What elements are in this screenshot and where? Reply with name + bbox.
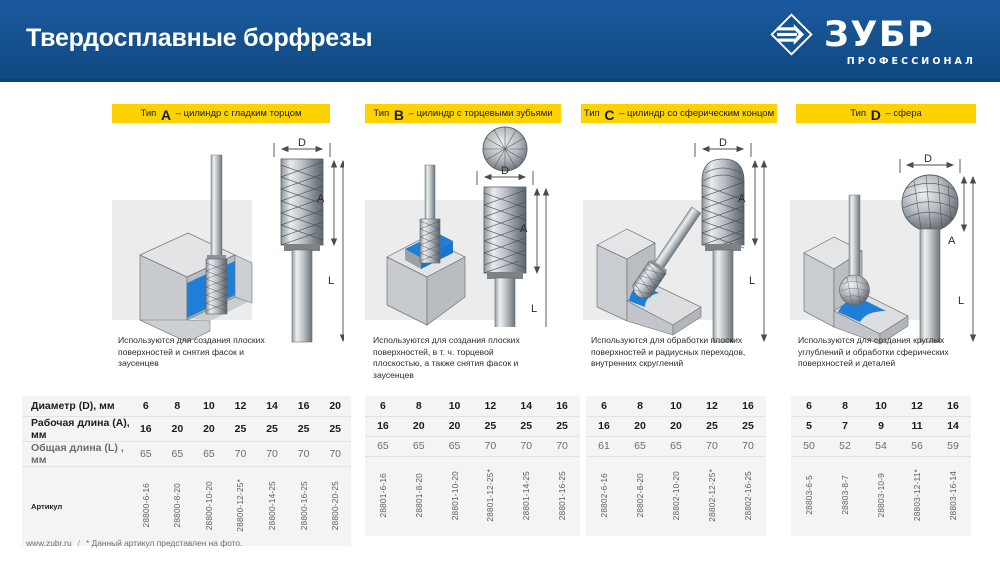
burr-tool-dimension-a (281, 159, 323, 342)
row-label-article-a: Артикул (22, 466, 130, 546)
brand-tagline: ПРОФЕССИОНАЛ (847, 56, 976, 67)
cell: 25 (544, 416, 580, 436)
dim-label-d-b: D (501, 165, 509, 177)
burr-tool-dimension-b (484, 187, 526, 327)
dim-label-d-a: D (298, 137, 306, 149)
table-row-diameter-b: 6 8 10 12 14 16 (365, 396, 580, 416)
illustration-type-d: D A L Используются для создания круглых … (790, 135, 990, 390)
cell: 28800-6-16 (130, 466, 162, 546)
footer-separator: / (72, 538, 86, 548)
cell: 25 (694, 416, 730, 436)
type-a-drawing (112, 135, 344, 355)
description-type-c: Используются для обработки плоских повер… (591, 335, 761, 370)
cell: 28800-16-25 (288, 466, 320, 546)
cell: 14 (935, 416, 971, 436)
cell: 20 (319, 396, 351, 416)
cell: 11 (899, 416, 935, 436)
cell: 8 (162, 396, 194, 416)
cell: 14 (508, 396, 544, 416)
cell: 28802-12-25* (694, 456, 730, 536)
cell: 10 (437, 396, 473, 416)
article-value: 28801-14-25 (521, 471, 531, 520)
cell: 65 (401, 436, 437, 456)
table-row-working-length-b: 16 20 20 25 25 25 (365, 416, 580, 436)
cell: 16 (730, 396, 766, 416)
cell: 25 (225, 416, 257, 441)
cell: 16 (130, 416, 162, 441)
cell: 12 (225, 396, 257, 416)
table-row-working-length-a: Рабочая длина (A), мм 16 20 20 25 25 25 … (22, 416, 351, 441)
cell: 65 (130, 441, 162, 466)
cell: 28803-8-7 (827, 456, 863, 536)
article-value: 28803-10-9 (876, 473, 886, 517)
illustration-type-c: D A L Используются для обработки плоских… (583, 135, 783, 390)
cell: 65 (437, 436, 473, 456)
cell: 8 (827, 396, 863, 416)
cell: 50 (791, 436, 827, 456)
cell: 12 (899, 396, 935, 416)
type-c-drawing (583, 135, 783, 355)
cell: 20 (193, 416, 225, 441)
brand-wordmark: ЗУБР (824, 17, 934, 53)
cell: 16 (586, 416, 622, 436)
article-value: 28800-6-16 (141, 483, 151, 527)
table-row-article-c: 28802-6-16 28802-8-20 28802-10-20 28802-… (586, 456, 766, 536)
illustration-type-a: D A L Используются для создания плоских … (112, 135, 344, 390)
cell: 28801-12-25* (472, 456, 508, 536)
dim-label-a-c: A (738, 193, 745, 205)
cell: 25 (508, 416, 544, 436)
page-title: Твердосплавные борфрезы (26, 24, 372, 53)
spec-table-c: 6 8 10 12 16 16 20 20 25 25 61 65 65 (586, 396, 766, 536)
footer-note: * Данный артикул представлен на фото. (86, 538, 242, 548)
cell: 65 (193, 441, 225, 466)
banner-prefix-a: Тип (140, 108, 156, 119)
cell: 65 (365, 436, 401, 456)
table-row-article-b: 28801-6-16 28801-8-20 28801-10-20 28801-… (365, 456, 580, 536)
cell: 20 (658, 416, 694, 436)
cell: 65 (658, 436, 694, 456)
spec-table-a: Диаметр (D), мм 6 8 10 12 14 16 20 Рабоч… (22, 396, 351, 546)
table-row-working-length-d: 5 7 9 11 14 (791, 416, 971, 436)
table-row-working-length-c: 16 20 20 25 25 (586, 416, 766, 436)
banner-suffix-d: – сфера (885, 108, 921, 119)
cell: 12 (472, 396, 508, 416)
cell: 28802-10-20 (658, 456, 694, 536)
dim-label-a-d: A (948, 235, 955, 247)
banner-letter-c: C (602, 108, 616, 122)
cell: 28801-8-20 (401, 456, 437, 536)
burr-tool-dimension-d (902, 175, 958, 342)
description-type-a: Используются для создания плоских поверх… (118, 335, 286, 370)
page-header: Твердосплавные борфрезы ЗУБР ПРОФЕССИОНА… (0, 0, 1000, 82)
type-d-drawing (790, 135, 990, 355)
banner-letter-a: A (159, 108, 173, 122)
spec-table-b: 6 8 10 12 14 16 16 20 20 25 25 25 65 (365, 396, 580, 536)
cell: 14 (256, 396, 288, 416)
article-value: 28800-10-20 (204, 481, 214, 530)
cell: 65 (162, 441, 194, 466)
cell: 28801-6-16 (365, 456, 401, 536)
cell: 16 (935, 396, 971, 416)
cell: 28803-10-9 (863, 456, 899, 536)
cell: 8 (401, 396, 437, 416)
cell: 25 (319, 416, 351, 441)
table-row-total-length-a: Общая длина (L) , мм 65 65 65 70 70 70 7… (22, 441, 351, 466)
table-row-diameter-d: 6 8 10 12 16 (791, 396, 971, 416)
table-row-article-d: 28803-6-5 28803-8-7 28803-10-9 28803-12-… (791, 456, 971, 536)
cell: 20 (622, 416, 658, 436)
dim-label-a-a: A (317, 193, 324, 205)
cell: 28801-16-25 (544, 456, 580, 536)
article-value: 28802-12-25* (707, 469, 717, 522)
table-row-total-length-b: 65 65 65 70 70 70 (365, 436, 580, 456)
burr-tool-inline-b (420, 165, 440, 263)
cell: 28800-14-25 (256, 466, 288, 546)
cell: 16 (365, 416, 401, 436)
article-value: 28803-16-14 (948, 471, 958, 520)
table-row-diameter-c: 6 8 10 12 16 (586, 396, 766, 416)
illustration-type-b: D A L Используются для создания плоских … (365, 135, 565, 390)
cell: 5 (791, 416, 827, 436)
cell: 70 (256, 441, 288, 466)
cell: 20 (437, 416, 473, 436)
burr-tool-inline-a (206, 155, 227, 314)
row-label-diameter-a: Диаметр (D), мм (22, 396, 130, 416)
article-value: 28801-8-20 (414, 473, 424, 517)
dim-label-l-c: L (749, 275, 755, 287)
banner-suffix-c: – цилиндр со сферическим концом (619, 108, 774, 119)
banner-prefix-c: Тип (584, 108, 600, 119)
article-value: 28802-10-20 (671, 471, 681, 520)
type-banner-d: Тип D – сфера (796, 104, 976, 123)
zubr-diamond-icon (768, 12, 815, 57)
cell: 6 (365, 396, 401, 416)
cell: 28803-6-5 (791, 456, 827, 536)
cell: 10 (193, 396, 225, 416)
table-row-article-a: Артикул 28800-6-16 28800-8-20 28800-10-2… (22, 466, 351, 546)
cell: 28800-10-20 (193, 466, 225, 546)
cell: 6 (130, 396, 162, 416)
cell: 52 (827, 436, 863, 456)
dim-label-l-d: L (958, 295, 964, 307)
article-value: 28801-12-25* (485, 469, 495, 522)
cell: 8 (622, 396, 658, 416)
burr-tool-dimension-c (702, 159, 744, 342)
cell: 70 (508, 436, 544, 456)
cell: 10 (863, 396, 899, 416)
cell: 70 (319, 441, 351, 466)
article-value: 28802-8-20 (635, 473, 645, 517)
cell: 59 (935, 436, 971, 456)
cell: 28802-6-16 (586, 456, 622, 536)
cell: 70 (225, 441, 257, 466)
cell: 28801-10-20 (437, 456, 473, 536)
spec-table-d: 6 8 10 12 16 5 7 9 11 14 50 52 54 (791, 396, 971, 536)
cell: 70 (288, 441, 320, 466)
dim-label-d-c: D (719, 137, 727, 149)
cell: 25 (256, 416, 288, 441)
cell: 28803-12-11* (899, 456, 935, 536)
cell: 10 (658, 396, 694, 416)
cell: 70 (544, 436, 580, 456)
type-banner-c: Тип C – цилиндр со сферическим концом (581, 104, 777, 123)
article-value: 28800-14-25 (267, 481, 277, 530)
cell: 16 (288, 396, 320, 416)
cell: 56 (899, 436, 935, 456)
article-value: 28800-8-20 (172, 483, 182, 527)
cell: 28800-12-25* (225, 466, 257, 546)
dim-label-d-d: D (924, 153, 932, 165)
type-b-drawing (365, 107, 565, 327)
article-value: 28800-16-25 (299, 481, 309, 530)
table-row-diameter-a: Диаметр (D), мм 6 8 10 12 14 16 20 (22, 396, 351, 416)
cell: 54 (863, 436, 899, 456)
cell: 25 (288, 416, 320, 441)
dim-label-a-b: A (520, 223, 527, 235)
cell: 20 (401, 416, 437, 436)
article-value: 28803-12-11* (912, 469, 922, 521)
cell: 70 (730, 436, 766, 456)
description-type-d: Используются для создания круглых углубл… (798, 335, 968, 370)
cell: 70 (472, 436, 508, 456)
cell: 20 (162, 416, 194, 441)
row-label-working-length-a: Рабочая длина (A), мм (22, 416, 130, 441)
table-row-total-length-d: 50 52 54 56 59 (791, 436, 971, 456)
cell: 61 (586, 436, 622, 456)
cell: 28802-8-20 (622, 456, 658, 536)
article-value: 28800-12-25* (235, 479, 245, 532)
cell: 65 (622, 436, 658, 456)
article-value: 28803-6-5 (804, 475, 814, 515)
article-value: 28801-10-20 (450, 471, 460, 520)
cell: 28800-8-20 (162, 466, 194, 546)
cell: 25 (472, 416, 508, 436)
workpiece-block-a (140, 233, 252, 342)
cell: 6 (791, 396, 827, 416)
cell: 70 (694, 436, 730, 456)
article-value: 28802-6-16 (599, 473, 609, 517)
brand-logo: ЗУБР ПРОФЕССИОНАЛ (768, 12, 978, 70)
cell: 16 (544, 396, 580, 416)
cell: 28802-16-25 (730, 456, 766, 536)
table-row-total-length-c: 61 65 65 70 70 (586, 436, 766, 456)
dim-label-l-a: L (328, 275, 334, 287)
footer-website[interactable]: www.zubr.ru (26, 538, 72, 548)
cell: 9 (863, 416, 899, 436)
banner-suffix-a: – цилиндр с гладким торцом (176, 108, 302, 119)
product-spec-sheet: Твердосплавные борфрезы ЗУБР ПРОФЕССИОНА… (0, 0, 1000, 563)
cell: 28801-14-25 (508, 456, 544, 536)
type-banner-a: Тип A – цилиндр с гладким торцом (112, 104, 330, 123)
banner-prefix-d: Тип (850, 108, 866, 119)
banner-letter-d: D (869, 108, 883, 122)
dim-label-l-b: L (531, 303, 537, 315)
cell: 6 (586, 396, 622, 416)
cell: 25 (730, 416, 766, 436)
cell: 7 (827, 416, 863, 436)
description-type-b: Используются для создания плоских поверх… (373, 335, 543, 381)
row-label-total-length-a: Общая длина (L) , мм (22, 441, 130, 466)
article-value: 28803-8-7 (840, 475, 850, 515)
article-value: 28800-20-25 (330, 481, 340, 530)
page-footer: www.zubr.ru/* Данный артикул представлен… (26, 538, 242, 548)
cell: 28800-20-25 (319, 466, 351, 546)
article-value: 28801-16-25 (557, 471, 567, 520)
article-value: 28802-16-25 (743, 471, 753, 520)
article-value: 28801-6-16 (378, 473, 388, 517)
cell: 28803-16-14 (935, 456, 971, 536)
cell: 12 (694, 396, 730, 416)
